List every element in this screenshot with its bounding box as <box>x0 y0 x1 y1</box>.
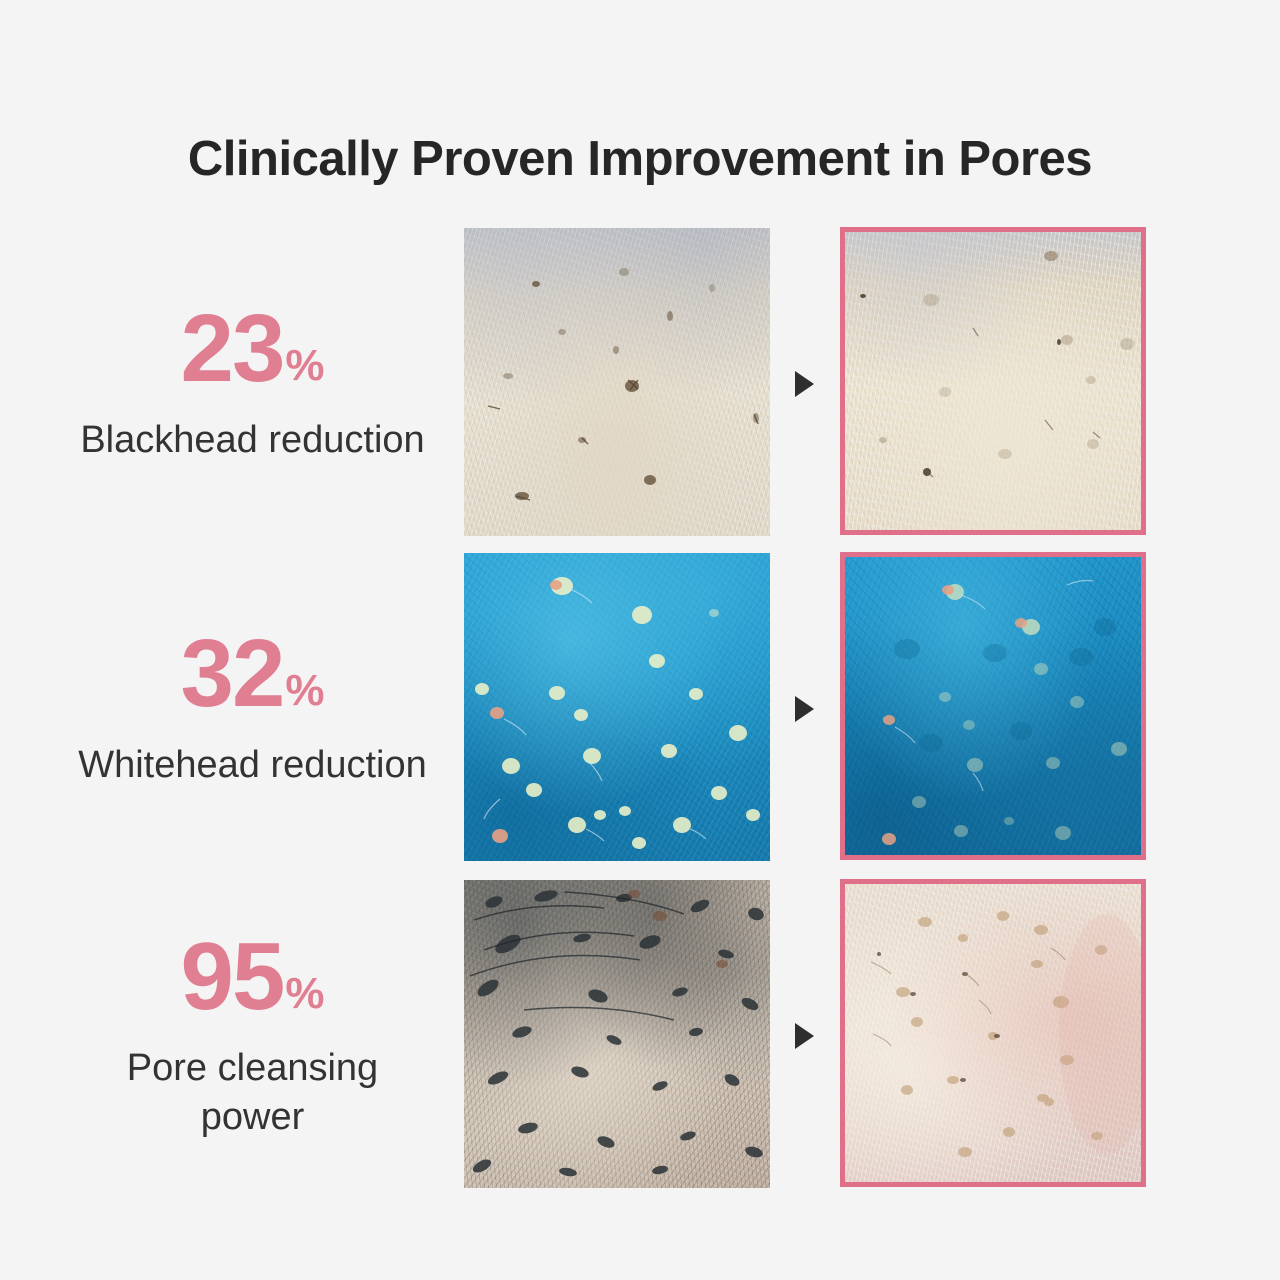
stat-block-whitehead: 32 % Whitehead reduction <box>60 553 445 865</box>
after-image-whitehead-surface <box>845 557 1141 855</box>
after-image-whitehead <box>840 552 1146 860</box>
stat-percent-symbol: % <box>285 344 324 394</box>
before-image-whitehead-surface <box>464 553 770 861</box>
after-image-blackhead-surface <box>845 232 1141 530</box>
before-image-blackhead-surface <box>464 228 770 536</box>
after-image-blackhead <box>840 227 1146 535</box>
stat-number: 95 <box>181 931 284 1022</box>
stat-value-group: 95 % <box>181 931 325 1022</box>
stat-row-whitehead: 32 % Whitehead reduction <box>0 553 1280 865</box>
stat-caption: Pore cleansing power <box>73 1044 433 1141</box>
stat-block-blackhead: 23 % Blackhead reduction <box>60 228 445 540</box>
skin-texture-uv-clear <box>845 557 1141 855</box>
stat-block-pore-cleansing: 95 % Pore cleansing power <box>60 880 445 1192</box>
skin-texture-congested <box>464 880 770 1188</box>
after-image-pore-cleansing-surface <box>845 884 1141 1182</box>
triangle-right-icon <box>795 1023 814 1049</box>
skin-texture-clean <box>845 884 1141 1182</box>
stat-row-pore-cleansing: 95 % Pore cleansing power <box>0 880 1280 1192</box>
stat-percent-symbol: % <box>285 972 324 1022</box>
skin-texture-pale <box>464 228 770 536</box>
stat-number: 23 <box>181 303 284 394</box>
stat-value-group: 32 % <box>181 628 325 719</box>
infographic-page: Clinically Proven Improvement in Pores 2… <box>0 0 1280 1280</box>
before-image-whitehead <box>464 553 770 861</box>
stat-caption: Blackhead reduction <box>80 416 424 465</box>
skin-texture-uv <box>464 553 770 861</box>
before-image-pore-cleansing-surface <box>464 880 770 1188</box>
before-image-pore-cleansing <box>464 880 770 1188</box>
stat-row-blackhead: 23 % Blackhead reduction <box>0 228 1280 540</box>
stat-number: 32 <box>181 628 284 719</box>
page-title: Clinically Proven Improvement in Pores <box>0 133 1280 187</box>
stat-caption: Whitehead reduction <box>78 741 427 790</box>
triangle-right-icon <box>795 696 814 722</box>
stat-value-group: 23 % <box>181 303 325 394</box>
triangle-right-icon <box>795 371 814 397</box>
after-image-pore-cleansing <box>840 879 1146 1187</box>
stat-percent-symbol: % <box>285 669 324 719</box>
before-image-blackhead <box>464 228 770 536</box>
skin-texture-pale-clear <box>845 232 1141 530</box>
